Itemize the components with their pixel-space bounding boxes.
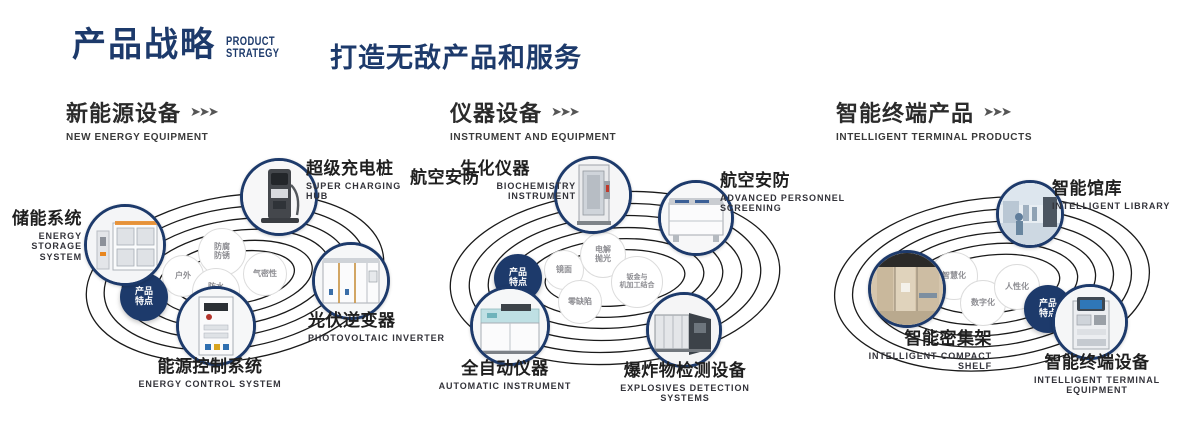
page-subtitle: 打造无敌产品和服务: [330, 36, 582, 75]
caption-en: INTELLIGENT LIBRARY: [1052, 201, 1192, 212]
caption-cn: 智能密集架: [802, 330, 992, 349]
caption-cn: 生化仪器: [460, 160, 576, 179]
caption-automatic-instrument: 全自动仪器 AUTOMATIC INSTRUMENT: [415, 360, 595, 391]
node-automatic-instrument[interactable]: [470, 286, 550, 366]
caption-cn: 能源控制系统: [80, 358, 340, 377]
caption-cn: 智能终端设备: [1012, 354, 1182, 373]
caption-energy-control-system: 能源控制系统 ENERGY CONTROL SYSTEM: [80, 358, 340, 389]
chevron-right-icon: ➤➤➤: [551, 104, 578, 120]
automatic-analyzer-icon: [473, 289, 547, 363]
caption-cn: 爆炸物检测设备: [605, 362, 765, 381]
caption-cn: 储能系统: [0, 210, 82, 229]
section-title-cn: 智能终端产品: [836, 96, 974, 128]
section-title-cn: 新能源设备: [66, 96, 181, 128]
caption-en: AUTOMATIC INSTRUMENT: [415, 381, 595, 392]
caption-cn: 超级充电桩: [306, 160, 426, 179]
caption-en: INTELLIGENT COMPACT SHELF: [802, 351, 992, 373]
page-title-en-line2: STRATEGY: [226, 47, 279, 60]
section-title-en: INTELLIGENT TERMINAL PRODUCTS: [836, 132, 1032, 143]
cluster-new-energy-equipment: 户外 防腐 防锈 防水 防尘 气密性 产品 特点: [50, 160, 410, 390]
section-title-intelligent-terminal: 智能终端产品 ➤➤➤ INTELLIGENT TERMINAL PRODUCTS: [836, 96, 1032, 143]
charging-pile-icon: [243, 161, 315, 233]
control-cabinet-icon: [179, 289, 253, 363]
page-title-en: PRODUCT STRATEGY: [226, 35, 279, 60]
caption-en: ENERGY STORAGE SYSTEM: [0, 231, 82, 263]
chevron-right-icon: ➤➤➤: [983, 104, 1010, 120]
node-intelligent-terminal-equipment[interactable]: [1052, 284, 1128, 360]
page-title-cn: 产品战略: [72, 28, 216, 62]
caption-cn: 智能馆库: [1052, 180, 1192, 199]
core-bubble-line1: 产品: [509, 268, 527, 278]
caption-en: ENERGY CONTROL SYSTEM: [80, 379, 340, 390]
node-energy-control-system[interactable]: [176, 286, 256, 366]
pv-inverter-icon: [315, 245, 387, 317]
feature-bubble: 零缺陷: [558, 280, 602, 324]
caption-explosives-detection-systems: 爆炸物检测设备 EXPLOSIVES DETECTION SYSTEMS: [605, 362, 765, 404]
section-title-en: NEW ENERGY EQUIPMENT: [66, 132, 217, 143]
caption-en: BIOCHEMISTRY INSTRUMENT: [460, 181, 576, 203]
caption-super-charging-hub: 超级充电桩 SUPER CHARGING HUB: [306, 160, 426, 202]
node-energy-storage-system[interactable]: [84, 204, 166, 286]
core-bubble-line1: 产品: [135, 287, 153, 297]
caption-intelligent-compact-shelf: 智能密集架 INTELLIGENT COMPACT SHELF: [802, 330, 992, 372]
product-strategy-infographic: 产品战略 PRODUCT STRATEGY 打造无敌产品和服务 新能源设备 ➤➤…: [0, 0, 1200, 422]
node-explosives-detection-systems[interactable]: [646, 292, 722, 368]
caption-en: INTELLIGENT TERMINAL EQUIPMENT: [1012, 375, 1182, 397]
caption-cn: 全自动仪器: [415, 360, 595, 379]
caption-energy-storage-system: 储能系统 ENERGY STORAGE SYSTEM: [0, 210, 82, 263]
page-header: 产品战略 PRODUCT STRATEGY: [72, 28, 294, 62]
section-title-cn: 仪器设备: [450, 96, 542, 128]
cluster-instrument-and-equipment: 镜面 电解 抛光 钣金与 机加工结合 零缺陷 产品 特点 航空安防: [420, 160, 810, 390]
caption-intelligent-terminal-equipment: 智能终端设备 INTELLIGENT TERMINAL EQUIPMENT: [1012, 354, 1182, 396]
chevron-right-icon: ➤➤➤: [190, 104, 217, 120]
terminal-kiosk-icon: [1055, 287, 1125, 357]
compact-shelf-icon: [871, 253, 943, 325]
core-bubble-line2: 特点: [135, 297, 153, 307]
node-intelligent-compact-shelf[interactable]: [868, 250, 946, 328]
section-title-en: INSTRUMENT AND EQUIPMENT: [450, 132, 616, 143]
node-photovoltaic-inverter[interactable]: [312, 242, 390, 320]
section-title-new-energy: 新能源设备 ➤➤➤ NEW ENERGY EQUIPMENT: [66, 96, 217, 143]
caption-en: EXPLOSIVES DETECTION SYSTEMS: [605, 383, 765, 405]
caption-intelligent-library: 智能馆库 INTELLIGENT LIBRARY: [1052, 180, 1192, 211]
caption-biochemistry-instrument: 生化仪器 BIOCHEMISTRY INSTRUMENT: [460, 160, 576, 202]
caption-en: SUPER CHARGING HUB: [306, 181, 426, 203]
explosive-detector-icon: [649, 295, 719, 365]
section-title-instrument: 仪器设备 ➤➤➤ INSTRUMENT AND EQUIPMENT: [450, 96, 616, 143]
battery-cabinet-icon: [87, 207, 163, 283]
cluster-intelligent-terminal-products: 智慧化 数字化 人性化 产品 特点: [812, 160, 1200, 390]
page-title-en-line1: PRODUCT: [226, 35, 279, 48]
